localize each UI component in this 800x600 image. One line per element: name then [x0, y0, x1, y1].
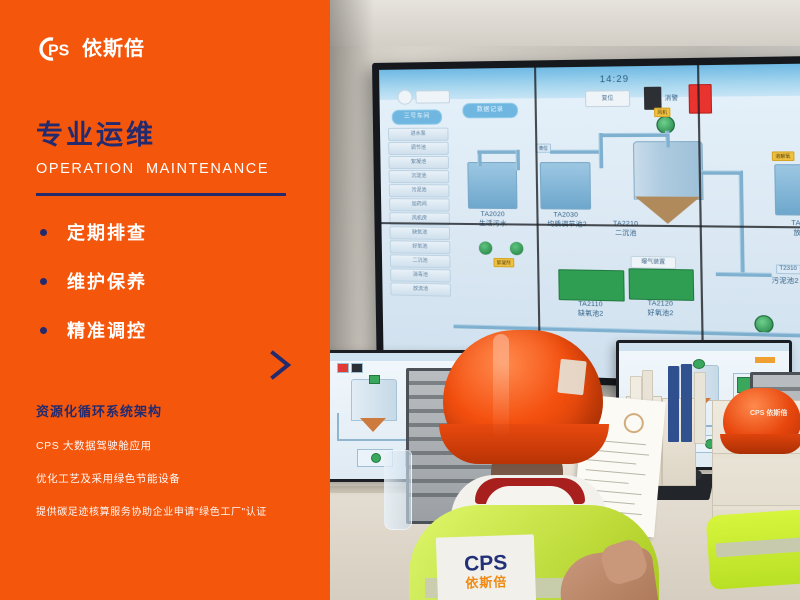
blower-3-icon — [754, 315, 773, 334]
paper-line — [585, 479, 629, 484]
chevron-right-icon[interactable] — [268, 348, 294, 382]
left-orange-panel: PS 依斯倍 专业运维 OPERATION MAINTENANCE 定期排查 维… — [0, 0, 330, 600]
alarm-silence-label: 消警 — [665, 95, 679, 104]
scada-clock: 14:29 — [600, 74, 630, 85]
stamp-icon — [623, 412, 645, 434]
footer-line: CPS 大数据驾驶舱应用 — [36, 439, 321, 453]
bullet-label: 精准调控 — [67, 320, 147, 342]
bullet-label: 维护保养 — [67, 271, 147, 293]
tab-workshop-label: 三号车间 — [393, 110, 442, 123]
analyzer-tag: 溶解氧 — [772, 151, 794, 161]
bullet-label: 定期排查 — [67, 222, 147, 244]
list-item: 维护保养 — [40, 257, 310, 306]
equipment-name: 二沉池 — [602, 229, 649, 238]
bullet-dot-icon — [40, 327, 47, 334]
equipment-tag: TA2110 — [559, 300, 623, 310]
hard-hat-sticker — [557, 359, 586, 396]
alarm-black-indicator — [644, 87, 662, 110]
vest-patch-text: 依斯倍 — [465, 574, 508, 590]
shelf-divider — [713, 505, 800, 510]
home-icon[interactable] — [397, 90, 412, 105]
equipment-name: 好氧池2 — [629, 309, 692, 319]
mini-chip — [337, 363, 349, 373]
footer-line: 优化工艺及采用绿色节能设备 — [36, 472, 321, 486]
reset-button[interactable]: 复位 — [585, 90, 630, 107]
cps-logo-icon: PS — [36, 36, 76, 62]
dosing-tag: 絮凝剂 — [493, 258, 513, 268]
sidebar-item-4[interactable]: 污泥池 — [389, 184, 450, 197]
reset-button-label: 复位 — [586, 91, 629, 106]
bullet-list: 定期排查 维护保养 精准调控 — [40, 208, 310, 355]
tab-data-log-label: 数据记录 — [463, 104, 517, 118]
sidebar-item-11[interactable]: 放流池 — [390, 282, 451, 296]
paper-line — [586, 459, 636, 464]
pipe — [550, 150, 599, 154]
sidebar-item-10[interactable]: 消毒池 — [390, 268, 451, 282]
flow-tag: 液位 — [535, 144, 551, 153]
mini-mixer-icon — [693, 359, 705, 369]
brand-logo-text: 依斯倍 — [82, 36, 145, 62]
equipment-tag: TA2030 — [541, 211, 592, 220]
basin-ta2110 — [558, 269, 624, 301]
tank-ta2020 — [467, 162, 517, 209]
pipe — [701, 170, 741, 174]
book-4 — [681, 364, 692, 442]
sidebar-item-9[interactable]: 二沉池 — [390, 254, 451, 268]
aeration-device-panel: 曝气装置 — [630, 256, 676, 269]
aeration-device-label: 曝气装置 — [632, 257, 676, 268]
bullet-dot-icon — [40, 278, 47, 285]
sidebar-item-2[interactable]: 絮凝池 — [388, 156, 449, 169]
slide-root: PS 依斯倍 专业运维 OPERATION MAINTENANCE 定期排查 维… — [0, 0, 800, 600]
book-5 — [694, 372, 706, 444]
control-room-photo: 14:29 三号车间 数据记录 复位 消警 进水泵 — [330, 0, 800, 600]
mini-pipe — [337, 413, 339, 441]
list-item: 定期排查 — [40, 208, 310, 257]
footer-block: 资源化循环系统架构 CPS 大数据驾驶舱应用 优化工艺及采用绿色节能设备 提供碳… — [36, 403, 321, 520]
vest-logo-patch: CPS 依斯倍 — [436, 534, 536, 600]
spare-hard-hat-brim — [720, 434, 800, 454]
alarm-red-indicator[interactable] — [688, 84, 712, 114]
basin-ta2120 — [628, 268, 694, 301]
headline-divider — [36, 193, 286, 196]
sidebar-item-3[interactable]: 沉淀池 — [389, 170, 450, 183]
sidebar-item-1[interactable]: 调节池 — [388, 142, 449, 155]
headline-cn: 专业运维 — [36, 118, 269, 152]
headline-en: OPERATION MAINTENANCE — [36, 160, 269, 178]
paper-line — [586, 469, 646, 475]
worker: CPS 依斯倍 — [365, 320, 655, 600]
sidebar-item-0[interactable]: 进水泵 — [388, 128, 449, 141]
svg-text:PS: PS — [48, 43, 70, 60]
mixer-tag: 风机 — [654, 108, 670, 118]
book-3 — [668, 366, 679, 442]
plant-select-button[interactable] — [415, 90, 450, 103]
equipment-tag: TA2120 — [629, 300, 692, 310]
hard-hat-ridge — [493, 334, 509, 438]
tab-data-log[interactable]: 数据记录 — [462, 103, 518, 119]
sidebar-item-5[interactable]: 加药间 — [389, 198, 450, 212]
equipment-name: 放流池 — [775, 229, 800, 238]
sidebar-item-7[interactable]: 缺氧池 — [389, 226, 450, 240]
blower-1-icon — [479, 241, 493, 254]
sidebar-item-8[interactable]: 好氧池 — [390, 240, 451, 254]
clarifier-ta2210 — [633, 141, 704, 200]
mini-tag — [755, 357, 775, 363]
equipment-tag: T2310 — [776, 264, 800, 274]
tank-ta2230 — [774, 164, 800, 216]
equipment-tag: TA2020 — [470, 211, 516, 220]
equipment-name: 污泥池2 — [772, 277, 800, 287]
pipe — [598, 133, 603, 168]
tank-ta2030 — [540, 162, 591, 210]
headline-block: 专业运维 OPERATION MAINTENANCE — [36, 118, 269, 178]
footer-title: 资源化循环系统架构 — [36, 403, 321, 421]
pipe — [516, 150, 520, 170]
tab-workshop[interactable]: 三号车间 — [392, 109, 443, 124]
brand-logo[interactable]: PS 依斯倍 — [36, 36, 145, 62]
ceiling — [330, 0, 800, 46]
mini-chip — [351, 363, 363, 373]
equipment-name: 缺氧池2 — [559, 309, 623, 319]
bullet-dot-icon — [40, 229, 47, 236]
footer-line: 提供碳足迹核算服务协助企业申请"绿色工厂"认证 — [36, 506, 321, 520]
pipe — [601, 133, 670, 137]
blower-2-icon — [510, 242, 524, 255]
hard-hat-brim — [439, 424, 609, 464]
spare-hard-hat-logo: CPS 依斯倍 — [750, 410, 787, 418]
pipe — [477, 150, 518, 154]
vest-patch-mark: CPS — [464, 552, 508, 575]
